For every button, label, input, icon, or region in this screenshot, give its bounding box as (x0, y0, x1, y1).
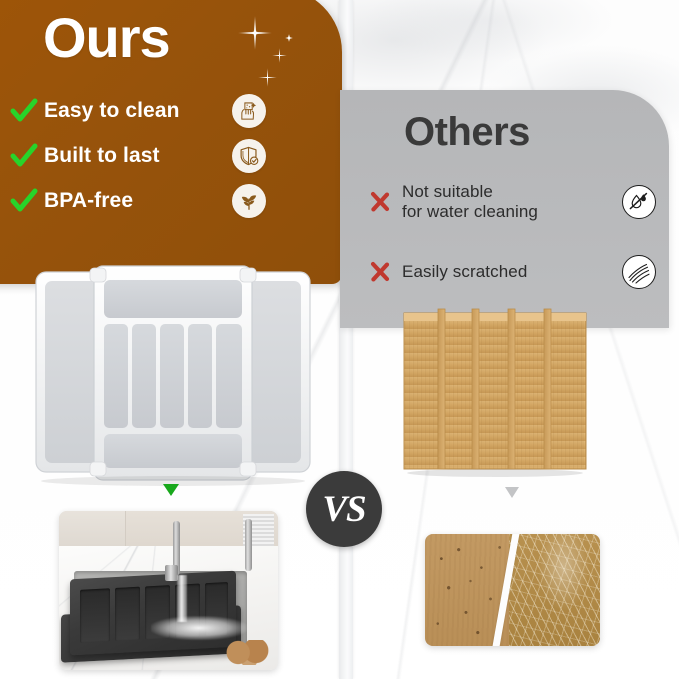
sparkle-icon (258, 68, 277, 87)
ours-title: Ours (43, 10, 170, 66)
sparkle-icon (272, 48, 287, 63)
scratches-icon (622, 255, 656, 289)
check-icon (4, 143, 44, 169)
leaf-plant-icon (232, 184, 266, 218)
others-title: Others (404, 112, 530, 152)
ours-feature-row: Built to last (4, 133, 304, 178)
triangle-down-icon (163, 484, 179, 496)
x-icon (358, 190, 402, 214)
ours-usage-photo (59, 511, 278, 670)
others-drawback-row: Easily scratched (358, 244, 670, 300)
others-panel: Others Not suitable for water cleaning (340, 90, 669, 328)
check-icon (4, 188, 44, 214)
infographic-canvas: Ours Easy to clean (0, 0, 679, 679)
ours-feature-label: Easy to clean (44, 99, 180, 123)
no-water-icon (622, 185, 656, 219)
shield-check-icon (232, 139, 266, 173)
others-drawback-label: Not suitable for water cleaning (402, 182, 538, 222)
ours-product-image (28, 262, 318, 487)
others-drawback-row: Not suitable for water cleaning (358, 174, 670, 230)
ours-feature-label: Built to last (44, 144, 160, 168)
check-icon (4, 98, 44, 124)
ours-feature-row: Easy to clean (4, 88, 304, 133)
wipe-cloth-icon (232, 94, 266, 128)
vs-badge: VS (306, 471, 382, 547)
x-icon (358, 260, 402, 284)
others-drawback-label: Easily scratched (402, 262, 527, 282)
others-drawback-list: Not suitable for water cleaning Easily (358, 174, 670, 300)
ours-feature-label: BPA-free (44, 189, 133, 213)
ours-panel: Ours Easy to clean (0, 0, 342, 284)
others-usage-photo (425, 534, 600, 646)
vs-label: VS (322, 488, 365, 531)
sparkle-icon (285, 34, 293, 42)
others-product-image (400, 305, 590, 480)
sparkle-icon (238, 16, 272, 50)
triangle-down-icon (505, 487, 519, 498)
ours-feature-list: Easy to clean (4, 88, 304, 223)
ours-feature-row: BPA-free (4, 178, 304, 223)
